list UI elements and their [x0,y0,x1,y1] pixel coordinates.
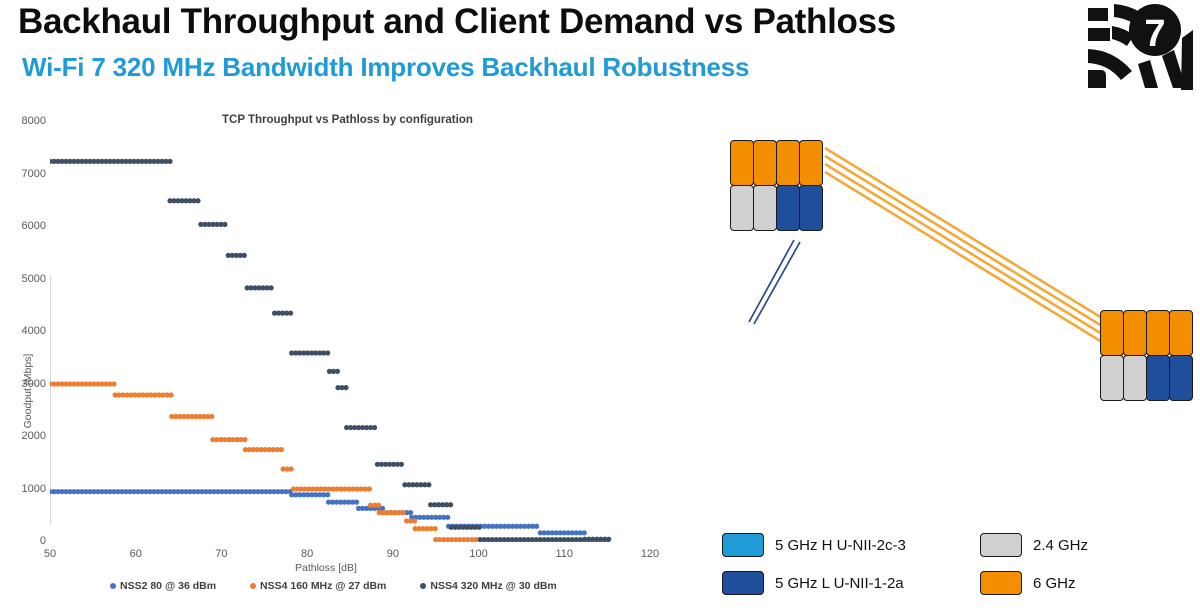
x-axis-title: Pathloss [dB] [295,562,357,574]
chart-legend-label: NSS2 80 @ 36 dBm [120,580,216,592]
band-24ghz [1123,355,1147,401]
band-6ghz [730,140,754,186]
chart-legend-item[interactable]: NSS4 320 MHz @ 30 dBm [420,580,556,592]
router-left[interactable] [730,140,822,231]
chart-legend-label: NSS4 320 MHz @ 30 dBm [430,580,556,592]
legend-dot-icon [110,583,116,589]
band-legend-swatch [722,533,764,557]
y-tick-label: 1000 [0,483,46,495]
y-tick-label: 6000 [0,220,46,232]
band-legend-item[interactable]: 2.4 GHz [980,533,1088,557]
band-legend-item[interactable]: 5 GHz H U-NII-2c-3 [722,533,906,557]
y-tick-label: 0 [0,535,46,547]
router-left-bottom-row [730,186,822,231]
band-6ghz [753,140,777,186]
band-24ghz [730,185,754,231]
band-6ghz [1100,310,1124,356]
legend-dot-icon [250,583,256,589]
page-subtitle: Wi-Fi 7 320 MHz Bandwidth Improves Backh… [22,52,749,83]
y-tick-label: 4000 [0,325,46,337]
x-tick-label: 120 [630,548,670,560]
router-right-top-row [1100,310,1192,356]
band-legend-swatch [722,571,764,595]
x-tick-label: 50 [30,548,70,560]
router-right[interactable] [1100,310,1192,401]
band-6ghz [1146,310,1170,356]
series-2 [50,159,611,542]
network-diagram: Wired WAN Backhaul BackhaulPathlossrelat… [690,100,1200,608]
legend-dot-icon [420,583,426,589]
wifi-logo-number: 7 [1144,13,1165,55]
band-6ghz [799,140,823,186]
x-tick-label: 60 [116,548,156,560]
band-6ghz [1169,310,1193,356]
band-legend-label: 2.4 GHz [1033,537,1088,554]
wifi-7-logo-icon: 7 [1086,2,1194,92]
band-legend-item[interactable]: 6 GHz [980,571,1076,595]
router-right-bottom-row [1100,356,1192,401]
band-6ghz [1123,310,1147,356]
band-5ghz-low [1146,355,1170,401]
chart-legend-item[interactable]: NSS4 160 MHz @ 27 dBm [250,580,386,592]
x-tick-label: 90 [373,548,413,560]
band-5ghz-low [1169,355,1193,401]
band-legend-label: 5 GHz L U-NII-1-2a [775,575,904,592]
x-tick-label: 70 [201,548,241,560]
band-legend-swatch [980,571,1022,595]
page-title: Backhaul Throughput and Client Demand vs… [18,2,896,42]
x-tick-label: 110 [544,548,584,560]
router-left-top-row [730,140,822,186]
band-24ghz [753,185,777,231]
band-5ghz-low [776,185,800,231]
band-6ghz [776,140,800,186]
x-tick-label: 80 [287,548,327,560]
y-tick-label: 7000 [0,168,46,180]
band-legend-item[interactable]: 5 GHz L U-NII-1-2a [722,571,904,595]
series-0 [50,489,611,542]
throughput-chart: TCP Throughput vs Pathloss by configurat… [0,100,690,608]
y-tick-label: 5000 [0,273,46,285]
x-tick-label: 100 [459,548,499,560]
y-tick-label: 8000 [0,115,46,127]
band-legend-label: 6 GHz [1033,575,1076,592]
y-tick-label: 3000 [0,378,46,390]
page-header: Backhaul Throughput and Client Demand vs… [0,0,1200,96]
band-legend-label: 5 GHz H U-NII-2c-3 [775,537,906,554]
band-24ghz [1100,355,1124,401]
chart-legend-item[interactable]: NSS2 80 @ 36 dBm [110,580,216,592]
y-tick-label: 2000 [0,430,46,442]
chart-legend: NSS2 80 @ 36 dBmNSS4 160 MHz @ 27 dBmNSS… [110,580,630,592]
plot-area [50,122,650,542]
chart-legend-label: NSS4 160 MHz @ 27 dBm [260,580,386,592]
band-legend-swatch [980,533,1022,557]
band-5ghz-low [799,185,823,231]
